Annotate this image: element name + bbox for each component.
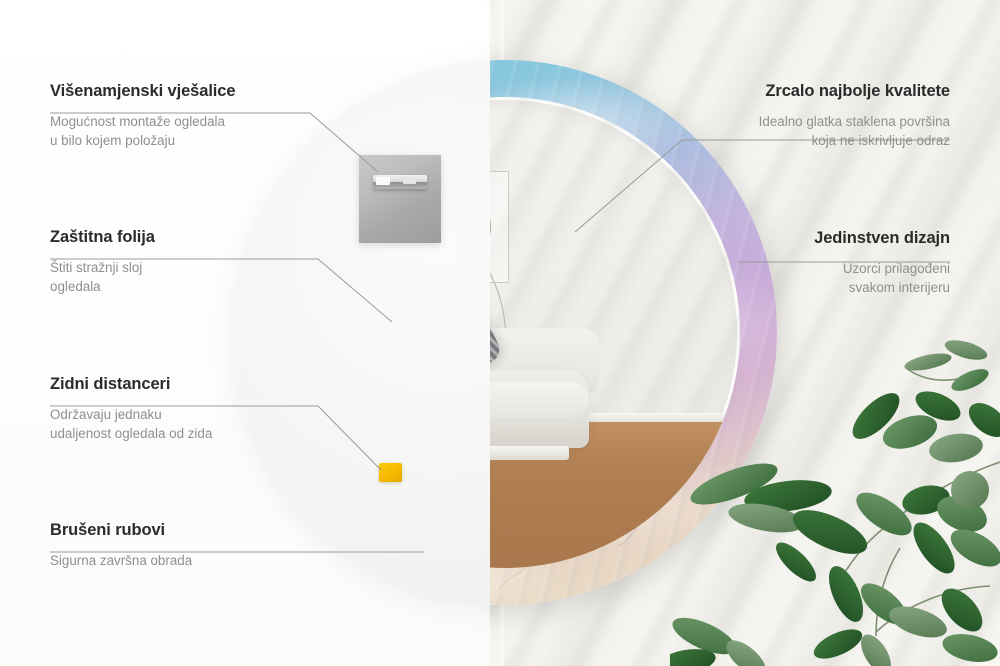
hanger-bracket-icon — [373, 175, 427, 189]
callout-zidni-distanceri: Zidni distanceri Održavaju jednaku udalj… — [50, 375, 318, 443]
reflected-sofa-seat — [490, 382, 589, 418]
callout-description: Uzorci prilagođeni svakom interijeru — [650, 260, 950, 297]
callout-title: Zrcalo najbolje kvalitete — [650, 82, 950, 101]
reflected-sofa-legs — [490, 446, 569, 460]
callout-zastitna-folija: Zaštitna folija Štiti stražnji sloj ogle… — [50, 228, 312, 296]
callout-bruseni-rubovi: Brušeni rubovi Sigurna završna obrada — [50, 521, 350, 571]
callout-jedinstven-dizajn: Jedinstven dizajn Uzorci prilagođeni sva… — [650, 229, 950, 297]
callout-zrcalo-najbolje-kvalitete: Zrcalo najbolje kvalitete Idealno glatka… — [650, 82, 950, 150]
infographic-canvas: Višenamjenski vješalice Mogućnost montaž… — [0, 0, 1000, 666]
mirror-hanger-detail — [359, 155, 441, 243]
callout-description: Sigurna završna obrada — [50, 552, 350, 571]
mirror-glass-reflection — [490, 97, 740, 568]
callout-description: Štiti stražnji sloj ogledala — [50, 259, 312, 296]
callout-description: Održavaju jednaku udaljenost ogledala od… — [50, 406, 318, 443]
callout-title: Jedinstven dizajn — [650, 229, 950, 248]
callout-title: Brušeni rubovi — [50, 521, 350, 540]
callout-title: Zidni distanceri — [50, 375, 318, 394]
callout-description: Mogućnost montaže ogledala u bilo kojem … — [50, 113, 312, 150]
callout-title: Zaštitna folija — [50, 228, 312, 247]
hanger-slot-left — [376, 177, 390, 185]
hanger-slot-right — [403, 177, 416, 184]
callout-title: Višenamjenski vješalice — [50, 82, 312, 101]
callout-visenamjenski-vjesalice: Višenamjenski vješalice Mogućnost montaž… — [50, 82, 312, 150]
callout-description: Idealno glatka staklena površina koja ne… — [650, 113, 950, 150]
wall-spacer-marker — [379, 463, 402, 482]
